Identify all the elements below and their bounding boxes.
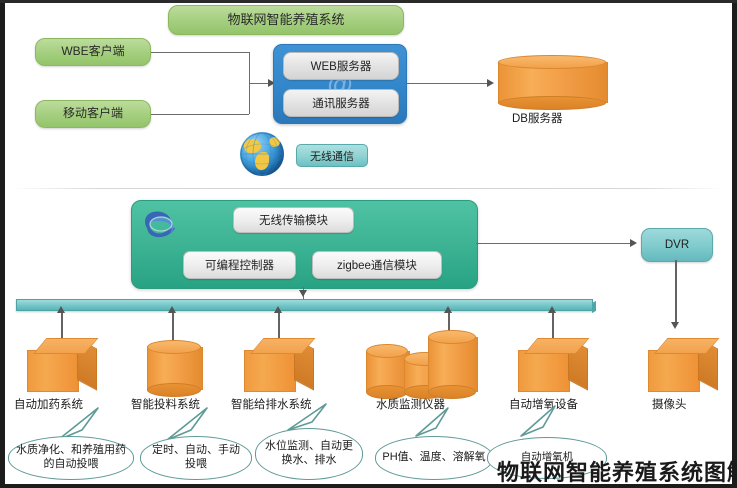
db-server-cylinder [498,55,606,103]
frame-border-right [732,0,737,488]
device-shape-5 [518,338,586,390]
device-shape-4 [366,330,478,392]
device-shape-3 [244,338,312,390]
arrow-to-dvr [630,239,637,247]
callout-2: 定时、自动、手动投喂 [140,436,252,480]
callout-3: 水位监测、自动更换水、排水 [255,428,363,480]
callout-4: PH值、温度、溶解氧 [375,436,493,480]
arrow-to-db [487,79,494,87]
arrow-bus-down [299,290,307,297]
client-box-mobile[interactable]: 移动客户端 [35,100,151,128]
riser-line-2 [172,311,174,343]
diagram-title: 物联网智能养殖系统 [168,5,404,35]
globe-grid-lines [240,132,284,176]
riser-arrow-3 [274,306,282,313]
callout-1: 水质净化、和养殖用药的自动投喂 [8,436,134,480]
wireless-comm-label: 无线通信 [296,144,368,167]
diagram-canvas: 物联网智能养殖系统 WBE客户端 移动客户端 @ WEB服务器 通讯服务器 DB… [0,0,737,488]
device-label-6: 摄像头 [652,396,687,412]
zigbee-module[interactable]: zigbee通信模块 [312,251,442,279]
plc-controller[interactable]: 可编程控制器 [183,251,296,279]
ie-browser-icon [140,207,180,241]
riser-arrow-1 [57,306,65,313]
wireless-transmit-module[interactable]: 无线传输模块 [233,207,354,233]
gateway-panel: 无线传输模块 可编程控制器 zigbee通信模块 [131,200,478,289]
db-server-label: DB服务器 [512,110,562,126]
field-bus-bar [16,299,593,311]
comm-server-box[interactable]: 通讯服务器 [283,89,399,117]
connector-web-client [151,52,249,53]
riser-arrow-2 [168,306,176,313]
dvr-box[interactable]: DVR [641,228,713,262]
frame-border-left [0,0,5,488]
riser-arrow-4 [444,306,452,313]
connector-gateway-dvr [476,243,632,244]
connector-server-db [405,83,489,84]
watermark-text: 物联网智能养殖系统图解 [497,455,737,487]
section-divider [10,188,726,189]
connector-dvr-camera [675,260,677,324]
globe-icon [240,132,284,176]
cylinder-back [428,330,476,392]
server-group-box: @ WEB服务器 通讯服务器 [273,44,407,124]
cylinder-left [366,344,408,392]
device-shape-2 [147,340,201,390]
device-shape-6 [648,338,716,390]
arrow-dvr-camera [671,322,679,329]
device-shape-1 [27,338,95,390]
client-box-web[interactable]: WBE客户端 [35,38,151,66]
frame-border-top [0,0,737,3]
web-server-box[interactable]: WEB服务器 [283,52,399,80]
connector-mobile-client [151,114,249,115]
riser-arrow-5 [548,306,556,313]
